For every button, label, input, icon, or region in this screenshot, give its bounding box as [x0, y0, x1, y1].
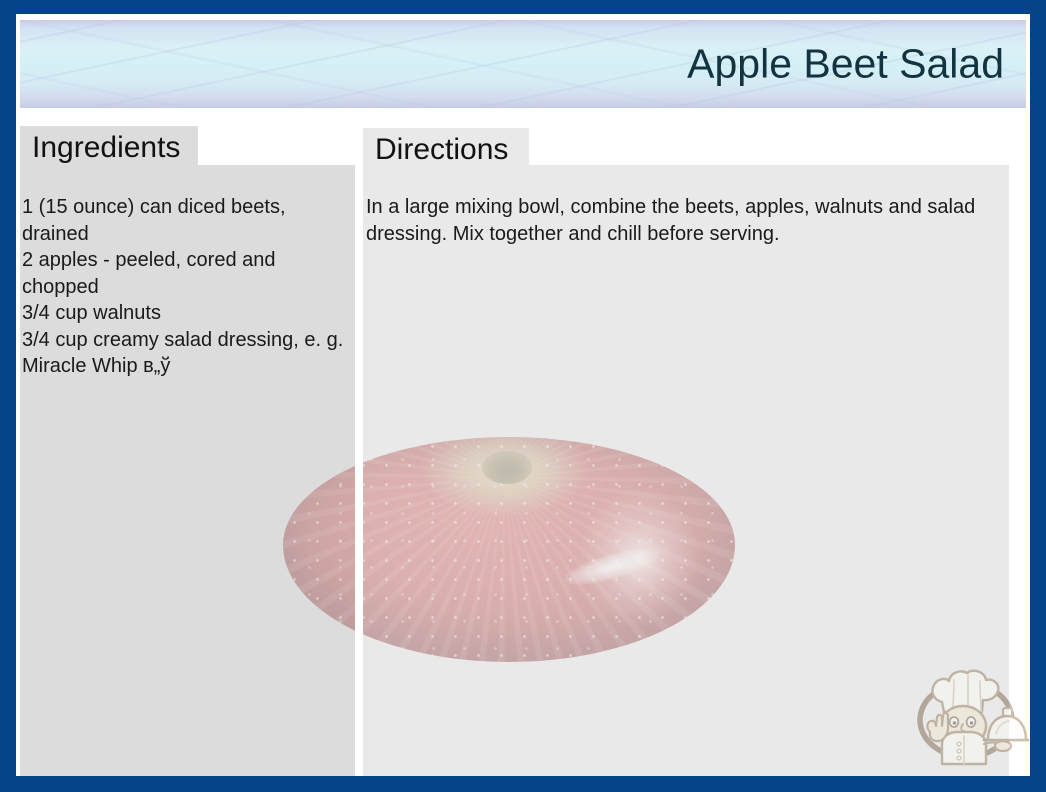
- page-title: Apple Beet Salad: [687, 42, 1004, 85]
- directions-panel: [363, 165, 1009, 776]
- panel-divider: [355, 165, 363, 776]
- directions-body-text: In a large mixing bowl, combine the beet…: [366, 194, 986, 247]
- directions-heading: Directions: [363, 128, 529, 172]
- title-banner: Apple Beet Salad: [20, 20, 1026, 108]
- recipe-slide: Ingredients Directions 1 (15 ounce) can …: [0, 0, 1046, 792]
- slide-border-bottom: [0, 776, 1046, 792]
- ingredients-list: 1 (15 ounce) can diced beets, drained 2 …: [22, 194, 352, 380]
- slide-border-left: [0, 0, 16, 792]
- slide-border-top: [0, 0, 1046, 14]
- slide-border-right: [1030, 0, 1046, 792]
- ingredients-heading: Ingredients: [20, 126, 198, 170]
